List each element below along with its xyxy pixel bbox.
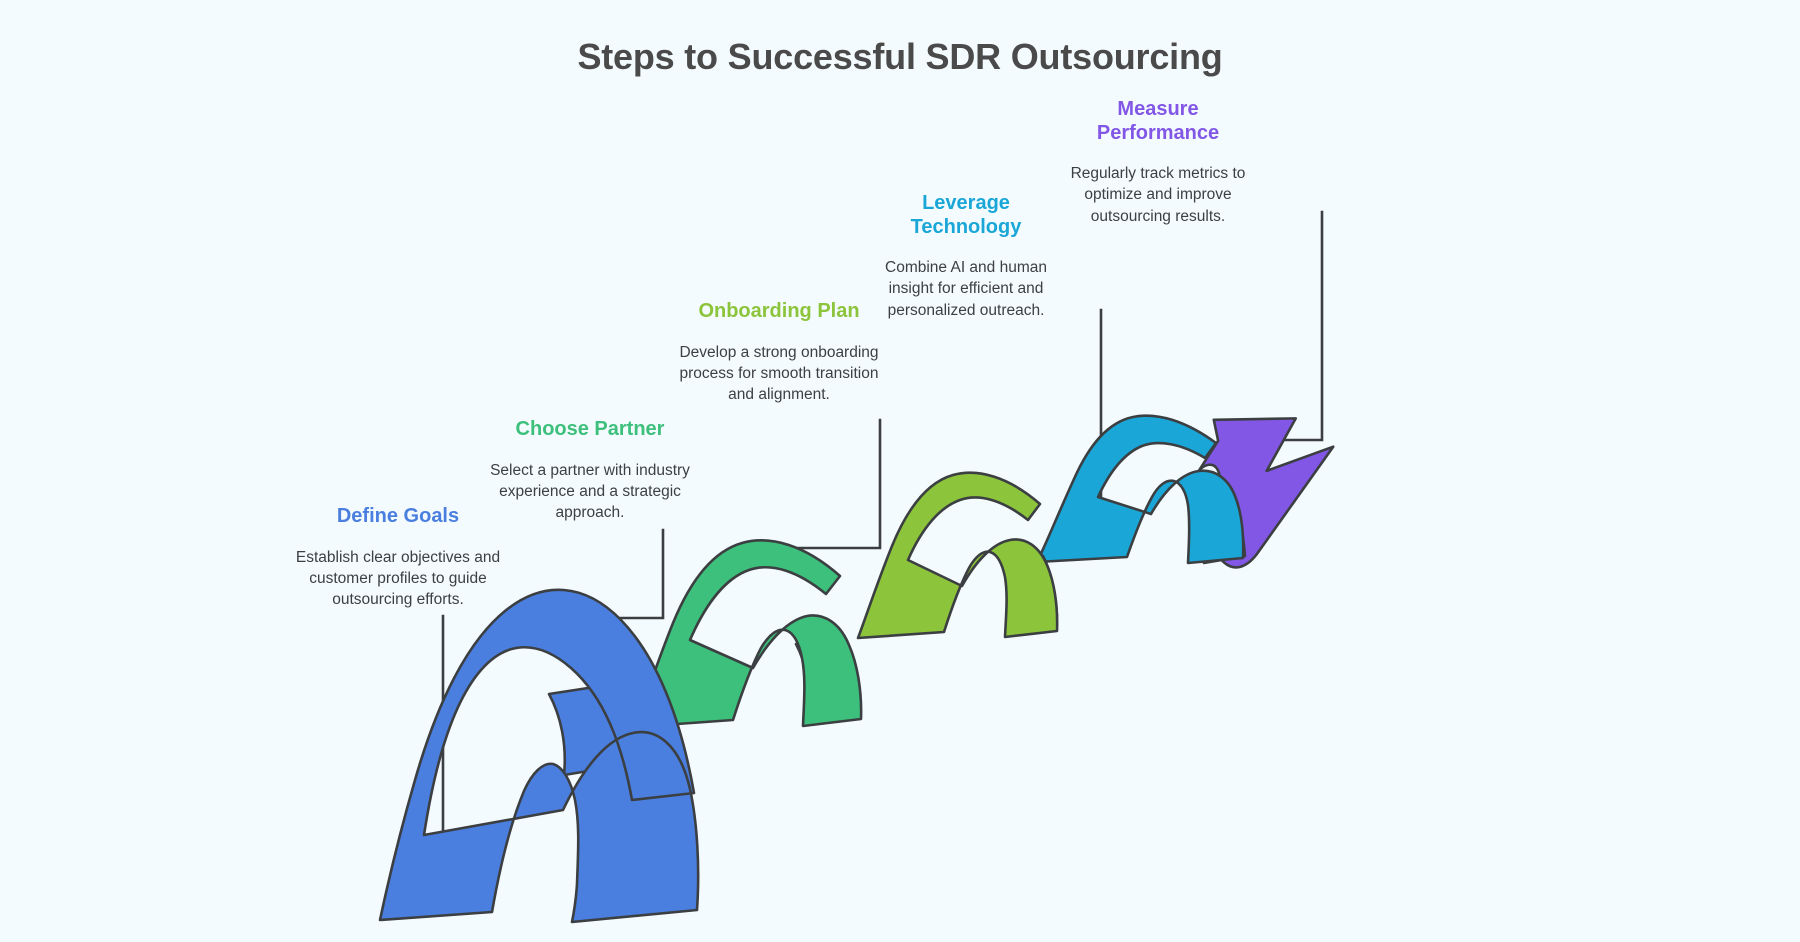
step-description: Combine AI and human insight for efficie…: [866, 257, 1066, 321]
step-heading: Measure Performance: [1058, 98, 1258, 145]
step-block-onboarding-plan: Onboarding Plan Develop a strong onboard…: [673, 300, 885, 405]
step-description: Establish clear objectives and customer …: [292, 547, 504, 611]
ribbon-segment-leverage-technology: [1037, 416, 1245, 620]
ribbon-body-cyan: [1037, 416, 1243, 563]
infographic-root: Steps to Successful SDR Outsourcing: [0, 0, 1800, 942]
connector-line-3: [764, 420, 880, 548]
step-description: Regularly track metrics to optimize and …: [1058, 163, 1258, 227]
step-heading: Choose Partner: [484, 418, 696, 442]
step-heading: Leverage Technology: [866, 192, 1066, 239]
ribbon-body-yellowgreen: [858, 473, 1057, 638]
ribbon-arrow-graphic: [0, 0, 1800, 942]
step-heading: Define Goals: [292, 505, 504, 529]
ribbon-segment-define-goals: [380, 590, 698, 922]
connector-line-5: [1280, 212, 1322, 440]
ribbon-segment-onboarding-plan: [858, 473, 1057, 638]
step-description: Select a partner with industry experienc…: [484, 460, 696, 524]
step-description: Develop a strong onboarding process for …: [673, 342, 885, 406]
step-heading: Onboarding Plan: [673, 300, 885, 324]
step-block-measure-performance: Measure Performance Regularly track metr…: [1058, 98, 1258, 227]
step-block-choose-partner: Choose Partner Select a partner with ind…: [484, 418, 696, 523]
step-block-define-goals: Define Goals Establish clear objectives …: [292, 505, 504, 610]
ribbon-body-blue: [380, 590, 698, 922]
step-block-leverage-technology: Leverage Technology Combine AI and human…: [866, 192, 1066, 321]
